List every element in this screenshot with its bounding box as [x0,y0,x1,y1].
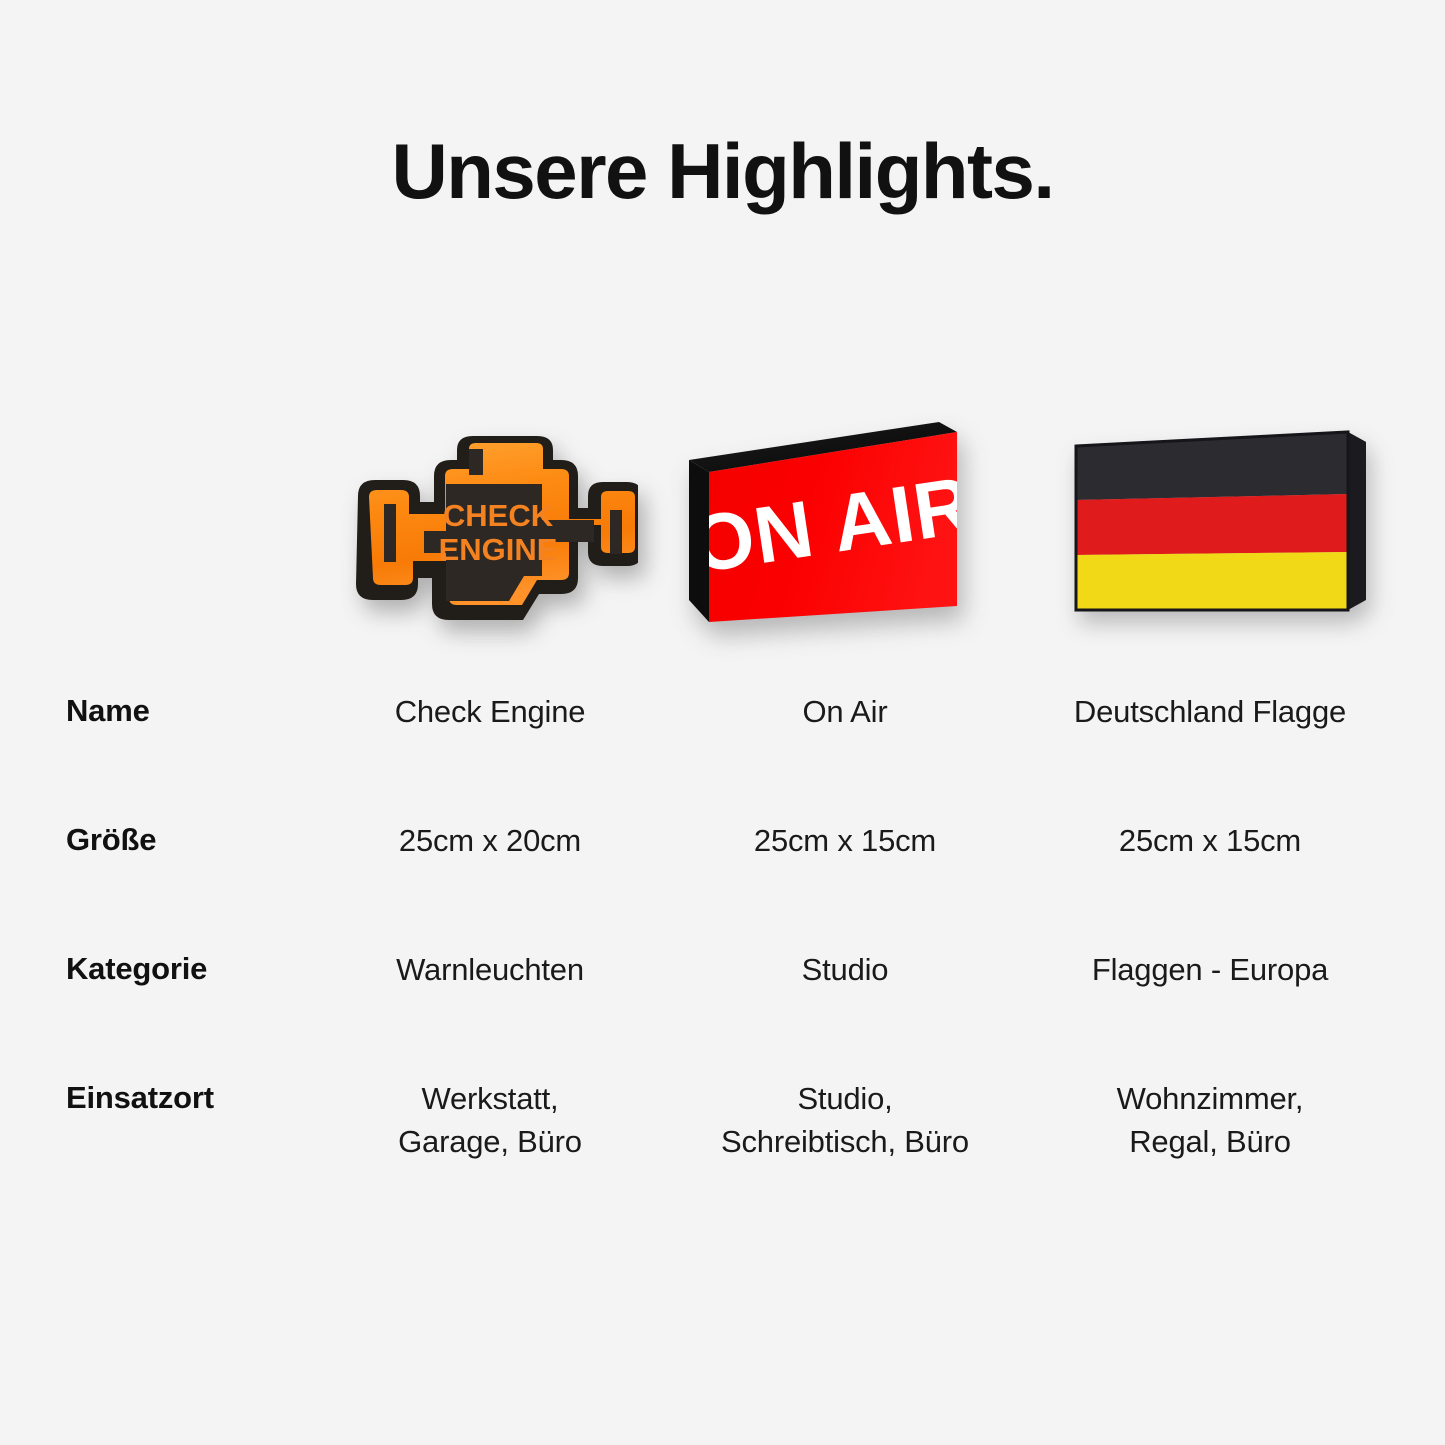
cell-kategorie-on-air: Studio [670,948,1020,991]
cell-line: 25cm x 15cm [1020,819,1400,862]
cell-line: On Air [670,690,1020,733]
cell-line: Werkstatt, [310,1077,670,1120]
cell-line: 25cm x 15cm [670,819,1020,862]
cell-line: Regal, Büro [1020,1120,1400,1163]
check-engine-text-line2: ENGINE [439,532,558,567]
cell-line: Studio [670,948,1020,991]
cell-groesse-on-air: 25cm x 15cm [670,819,1020,862]
cell-einsatzort-on-air: Studio, Schreibtisch, Büro [670,1077,1020,1164]
product-image-on-air[interactable]: ON AIR [665,400,1025,670]
cell-line: Schreibtisch, Büro [670,1120,1020,1163]
check-engine-text-line1: CHECK [443,498,554,533]
highlights-page: Unsere Highlights. [0,0,1445,1445]
row-label-einsatzort: Einsatzort [0,1077,310,1119]
cell-line: Wohnzimmer, [1020,1077,1400,1120]
cell-groesse-deutschland-flagge: 25cm x 15cm [1020,819,1400,862]
cell-name-on-air: On Air [670,690,1020,733]
germany-flag-sign-icon [1062,424,1372,629]
cell-einsatzort-check-engine: Werkstatt, Garage, Büro [310,1077,670,1164]
table-row: Größe 25cm x 20cm 25cm x 15cm 25cm x 15c… [0,819,1445,948]
cell-line: Garage, Büro [310,1120,670,1163]
row-label-groesse: Größe [0,819,310,861]
row-label-name: Name [0,690,310,732]
cell-kategorie-check-engine: Warnleuchten [310,948,670,991]
cell-name-deutschland-flagge: Deutschland Flagge [1020,690,1400,733]
cell-einsatzort-deutschland-flagge: Wohnzimmer, Regal, Büro [1020,1077,1400,1164]
cell-line: Check Engine [310,690,670,733]
cell-name-check-engine: Check Engine [310,690,670,733]
cell-line: Warnleuchten [310,948,670,991]
product-image-deutschland-flagge[interactable] [1030,400,1390,670]
cell-line: Studio, [670,1077,1020,1120]
cell-kategorie-deutschland-flagge: Flaggen - Europa [1020,948,1400,991]
on-air-sign-icon: ON AIR [683,420,1001,635]
page-title: Unsere Highlights. [0,132,1445,210]
product-image-check-engine[interactable]: CHECK ENGINE [300,400,680,670]
check-engine-lamp-icon: CHECK ENGINE [328,422,638,640]
table-row: Einsatzort Werkstatt, Garage, Büro Studi… [0,1077,1445,1227]
cell-groesse-check-engine: 25cm x 20cm [310,819,670,862]
cell-line: 25cm x 20cm [310,819,670,862]
row-label-kategorie: Kategorie [0,948,310,990]
cell-line: Flaggen - Europa [1020,948,1400,991]
table-row: Kategorie Warnleuchten Studio Flaggen - … [0,948,1445,1077]
table-row: Name Check Engine On Air Deutschland Fla… [0,690,1445,819]
spec-table: Name Check Engine On Air Deutschland Fla… [0,690,1445,1227]
cell-line: Deutschland Flagge [1020,690,1400,733]
product-image-row: CHECK ENGINE [0,400,1445,670]
